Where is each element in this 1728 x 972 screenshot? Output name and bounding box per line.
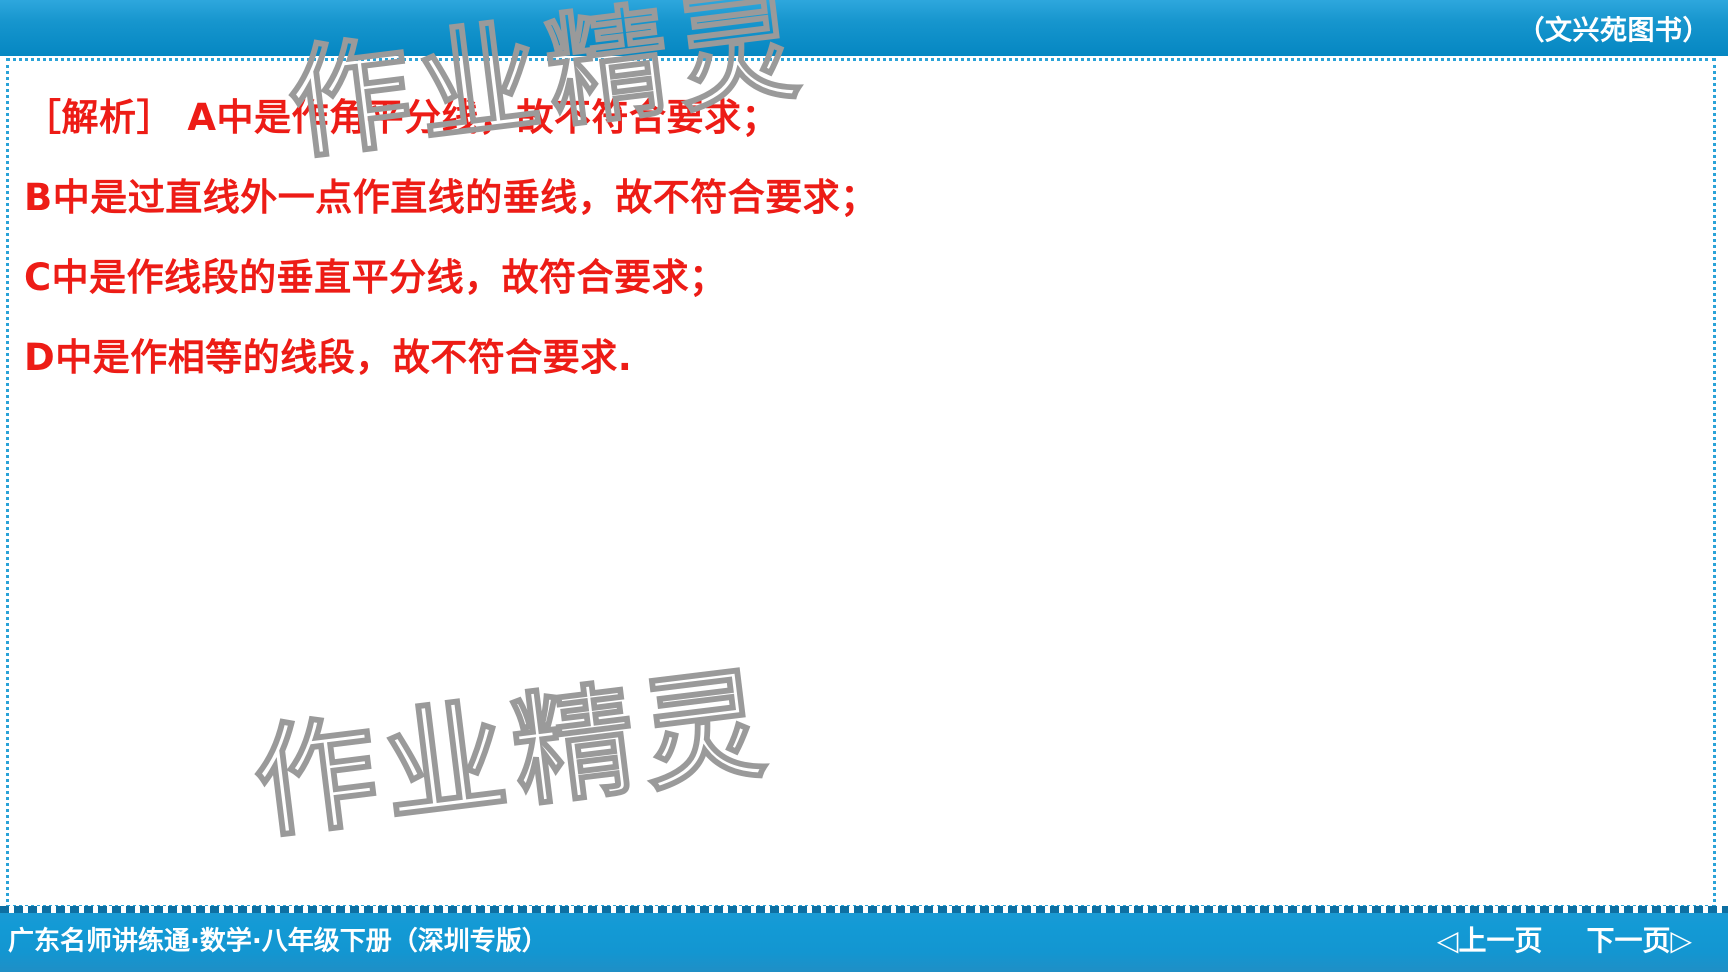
footer-dashed-divider (0, 906, 1728, 913)
next-page-button[interactable]: 下一页▷ (1586, 919, 1692, 959)
explanation-block: ［解析］ A中是作角平分线，故不符合要求； B中是过直线外一点作直线的垂线，故不… (24, 78, 1694, 398)
publisher-label: （文兴苑图书） (1518, 9, 1711, 48)
explanation-line-4: D中是作相等的线段，故不符合要求. (24, 318, 1694, 398)
explanation-line-3: C中是作线段的垂直平分线，故符合要求； (24, 238, 1694, 318)
explanation-line-2: B中是过直线外一点作直线的垂线，故不符合要求； (24, 158, 1694, 238)
slide-page: （文兴苑图书） ［解析］ A中是作角平分线，故不符合要求； B中是过直线外一点作… (0, 0, 1728, 972)
page-navigation: ◁上一页 下一页▷ (1437, 919, 1692, 959)
book-title: 广东名师讲练通·数学·八年级下册（深圳专版） (8, 921, 548, 958)
header-bar: （文兴苑图书） (0, 0, 1728, 56)
footer-bar: 广东名师讲练通·数学·八年级下册（深圳专版） ◁上一页 下一页▷ (0, 906, 1728, 972)
prev-page-button[interactable]: ◁上一页 (1437, 919, 1543, 959)
explanation-line-1: ［解析］ A中是作角平分线，故不符合要求； (24, 78, 1694, 158)
